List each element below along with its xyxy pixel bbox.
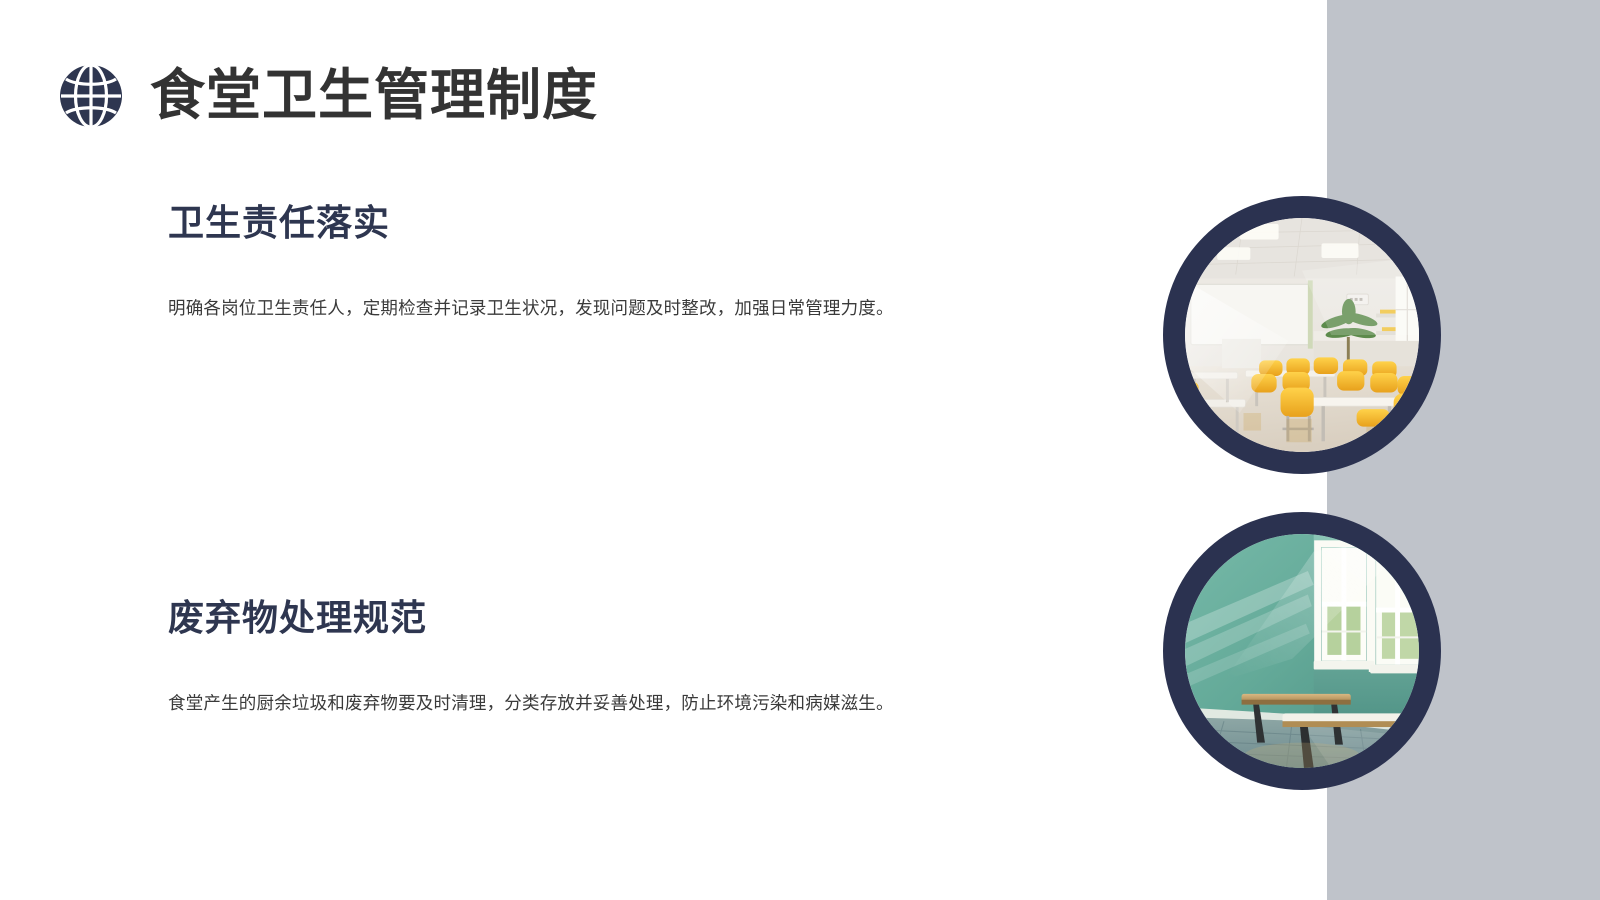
content-column: 卫生责任落实 明确各岗位卫生责任人，定期检查并记录卫生状况，发现问题及时整改，加… [168, 200, 1098, 719]
slide-canvas: 食堂卫生管理制度 卫生责任落实 明确各岗位卫生责任人，定期检查并记录卫生状况，发… [0, 0, 1600, 900]
section-block-2: 废弃物处理规范 食堂产生的厨余垃圾和废弃物要及时清理，分类存放并妥善处理，防止环… [168, 595, 1098, 718]
section-2-body: 食堂产生的厨余垃圾和废弃物要及时清理，分类存放并妥善处理，防止环境污染和病媒滋生… [168, 688, 1048, 719]
cafeteria-photo-image [1185, 218, 1419, 452]
slide-header: 食堂卫生管理制度 [58, 56, 598, 136]
section-2-heading: 废弃物处理规范 [168, 595, 1098, 642]
section-1-heading: 卫生责任落实 [168, 200, 1098, 247]
section-block-1: 卫生责任落实 明确各岗位卫生责任人，定期检查并记录卫生状况，发现问题及时整改，加… [168, 200, 1098, 323]
dining-room-photo-image [1185, 534, 1419, 768]
section-1-photo [1163, 196, 1441, 474]
page-title: 食堂卫生管理制度 [150, 67, 598, 125]
globe-icon [58, 63, 124, 129]
section-2-photo [1163, 512, 1441, 790]
section-1-body: 明确各岗位卫生责任人，定期检查并记录卫生状况，发现问题及时整改，加强日常管理力度… [168, 293, 1048, 324]
